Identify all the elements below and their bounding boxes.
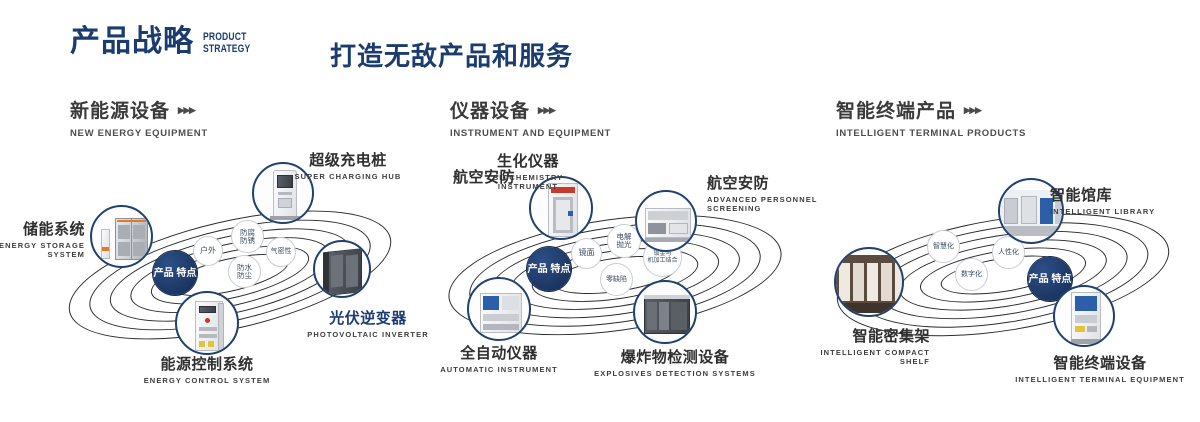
label-cn: 爆炸物检测设备 — [585, 346, 765, 367]
page-title: 产品战略 — [70, 26, 194, 58]
control-cabinet-icon — [177, 293, 237, 353]
page-header: 产品战略 PRODUCT STRATEGY — [70, 26, 264, 82]
bubble-line1: 数字化 — [961, 271, 982, 278]
product-label-intelligent-compact-shelf: 智能密集架 INTELLIGENT COMPACT SHELF — [765, 325, 930, 366]
chevron-right-triple-icon: ▸▸▸ — [178, 102, 195, 118]
cluster-new-energy-equipment: 产品 特点 户外 防腐 防锈 防水 防尘 气密性 — [30, 150, 430, 400]
feature-bubble-intelligent: 智慧化 — [927, 230, 960, 263]
label-en: INTELLIGENT COMPACT SHELF — [765, 348, 930, 366]
bubble-line2: 机加工结合 — [647, 258, 677, 264]
cluster-instrument-and-equipment: 产品 特点 镜面 电解 抛光 零缺陷 钣金与 机加工结合 航空安防 生化仪器 — [415, 150, 815, 400]
product-node-intelligent-terminal-equipment[interactable] — [1053, 285, 1115, 347]
label-cn: 储能系统 — [0, 218, 85, 239]
label-en: ENERGY STORAGE SYSTEM — [0, 241, 85, 259]
bubble-line2: 防尘 — [237, 272, 252, 280]
bubble-line2: 抛光 — [617, 241, 632, 249]
product-node-automatic-instrument[interactable] — [467, 277, 531, 341]
label-en: INTELLIGENT TERMINAL EQUIPMENT — [1005, 375, 1195, 384]
feature-bubble-mirror-finish: 镜面 — [571, 238, 602, 269]
section-header-intelligent-terminal: 智能终端产品▸▸▸ INTELLIGENT TERMINAL PRODUCTS — [836, 96, 1026, 139]
product-node-intelligent-compact-shelf[interactable] — [834, 247, 904, 317]
bubble-line1: 户外 — [200, 247, 216, 255]
feature-bubble-line1: 产品 — [528, 264, 548, 275]
screening-machine-icon — [637, 192, 695, 250]
feature-bubble-outdoor: 户外 — [193, 236, 223, 266]
product-label-super-charging-hub: 超级充电桩 SUPER CHARGING HUB — [278, 149, 418, 181]
label-en: SUPER CHARGING HUB — [278, 172, 418, 181]
product-label-biochemistry-instrument: 生化仪器 BIOCHEMISTRY INSTRUMENT — [453, 150, 603, 191]
feature-bubble-line2: 特点 — [1051, 274, 1071, 285]
section-header-new-energy: 新能源设备▸▸▸ NEW ENERGY EQUIPMENT — [70, 96, 208, 139]
product-node-energy-control-system[interactable] — [175, 291, 239, 355]
product-node-photovoltaic-inverter[interactable] — [313, 240, 371, 298]
feature-bubble-line1: 产品 — [1029, 274, 1049, 285]
feature-bubble-center: 产品 特点 — [527, 247, 571, 291]
product-label-automatic-instrument: 全自动仪器 AUTOMATIC INSTRUMENT — [419, 342, 579, 374]
product-label-explosives-detection-systems: 爆炸物检测设备 EXPLOSIVES DETECTION SYSTEMS — [585, 346, 765, 378]
label-en: ENERGY CONTROL SYSTEM — [127, 376, 287, 385]
label-cn: 超级充电桩 — [278, 149, 418, 170]
feature-bubble-zero-defect: 零缺陷 — [600, 263, 633, 296]
label-en: EXPLOSIVES DETECTION SYSTEMS — [585, 369, 765, 378]
inverter-cabinet-icon — [315, 242, 369, 296]
explosives-detector-icon — [635, 282, 695, 342]
label-cn: 能源控制系统 — [127, 353, 287, 374]
feature-bubble-line1: 产品 — [154, 268, 174, 279]
terminal-kiosk-icon — [1055, 287, 1113, 345]
label-cn: 全自动仪器 — [419, 342, 579, 363]
product-node-explosives-detection-systems[interactable] — [633, 280, 697, 344]
chevron-right-triple-icon: ▸▸▸ — [964, 102, 981, 118]
bubble-line1: 镜面 — [579, 249, 595, 257]
label-cn: 智能密集架 — [765, 325, 930, 346]
bubble-line1: 智慧化 — [933, 243, 954, 250]
section-header-instrument: 仪器设备▸▸▸ INSTRUMENT AND EQUIPMENT — [450, 96, 611, 139]
feature-bubble-center: 产品 特点 — [153, 251, 197, 295]
battery-cabinet-icon — [92, 207, 151, 266]
feature-bubble-airtight: 气密性 — [266, 237, 296, 267]
feature-bubble-digital: 数字化 — [955, 258, 988, 291]
section-title-cn: 新能源设备 — [70, 96, 170, 123]
bubble-line2: 防锈 — [240, 237, 255, 245]
compact-shelf-icon — [836, 249, 902, 315]
bubble-line1: 气密性 — [271, 248, 292, 255]
section-title-en: INSTRUMENT AND EQUIPMENT — [450, 128, 611, 139]
section-title-cn: 智能终端产品 — [836, 96, 956, 123]
label-cn: 智能终端设备 — [1005, 352, 1195, 373]
section-title-en: INTELLIGENT TERMINAL PRODUCTS — [836, 128, 1026, 139]
section-title-en: NEW ENERGY EQUIPMENT — [70, 128, 208, 139]
feature-bubble-line2: 特点 — [176, 268, 196, 279]
product-label-energy-storage-system: 储能系统 ENERGY STORAGE SYSTEM — [0, 218, 85, 259]
page-title-english: PRODUCT STRATEGY — [203, 32, 250, 58]
chevron-right-triple-icon: ▸▸▸ — [538, 102, 555, 118]
label-cn: 生化仪器 — [453, 150, 603, 171]
product-label-intelligent-library: 智能馆库 INTELLIGENT LIBRARY — [1050, 184, 1190, 216]
product-label-intelligent-terminal-equipment: 智能终端设备 INTELLIGENT TERMINAL EQUIPMENT — [1005, 352, 1195, 384]
bubble-line1: 人性化 — [998, 249, 1019, 256]
label-cn: 智能馆库 — [1050, 184, 1190, 205]
product-node-advanced-personnel-screening[interactable] — [635, 190, 697, 252]
cluster-intelligent-terminal-products: 智慧化 数字化 人性化 产品 特点 智能馆库 INTELLIGENT LIBRA… — [805, 150, 1200, 400]
product-node-energy-storage-system[interactable] — [90, 205, 153, 268]
label-en: INTELLIGENT LIBRARY — [1050, 207, 1190, 216]
product-label-energy-control-system: 能源控制系统 ENERGY CONTROL SYSTEM — [127, 353, 287, 385]
label-en: AUTOMATIC INSTRUMENT — [419, 365, 579, 374]
label-en: BIOCHEMISTRY INSTRUMENT — [453, 173, 603, 191]
section-title-cn: 仪器设备 — [450, 96, 530, 123]
slogan: 打造无敌产品和服务 — [330, 36, 573, 73]
feature-bubble-line2: 特点 — [550, 264, 570, 275]
feature-bubble-waterproof: 防水 防尘 — [228, 255, 261, 288]
bubble-line1: 零缺陷 — [606, 276, 627, 283]
automatic-instrument-icon — [469, 279, 529, 339]
feature-bubble-anticorrosion: 防腐 防锈 — [231, 220, 264, 253]
